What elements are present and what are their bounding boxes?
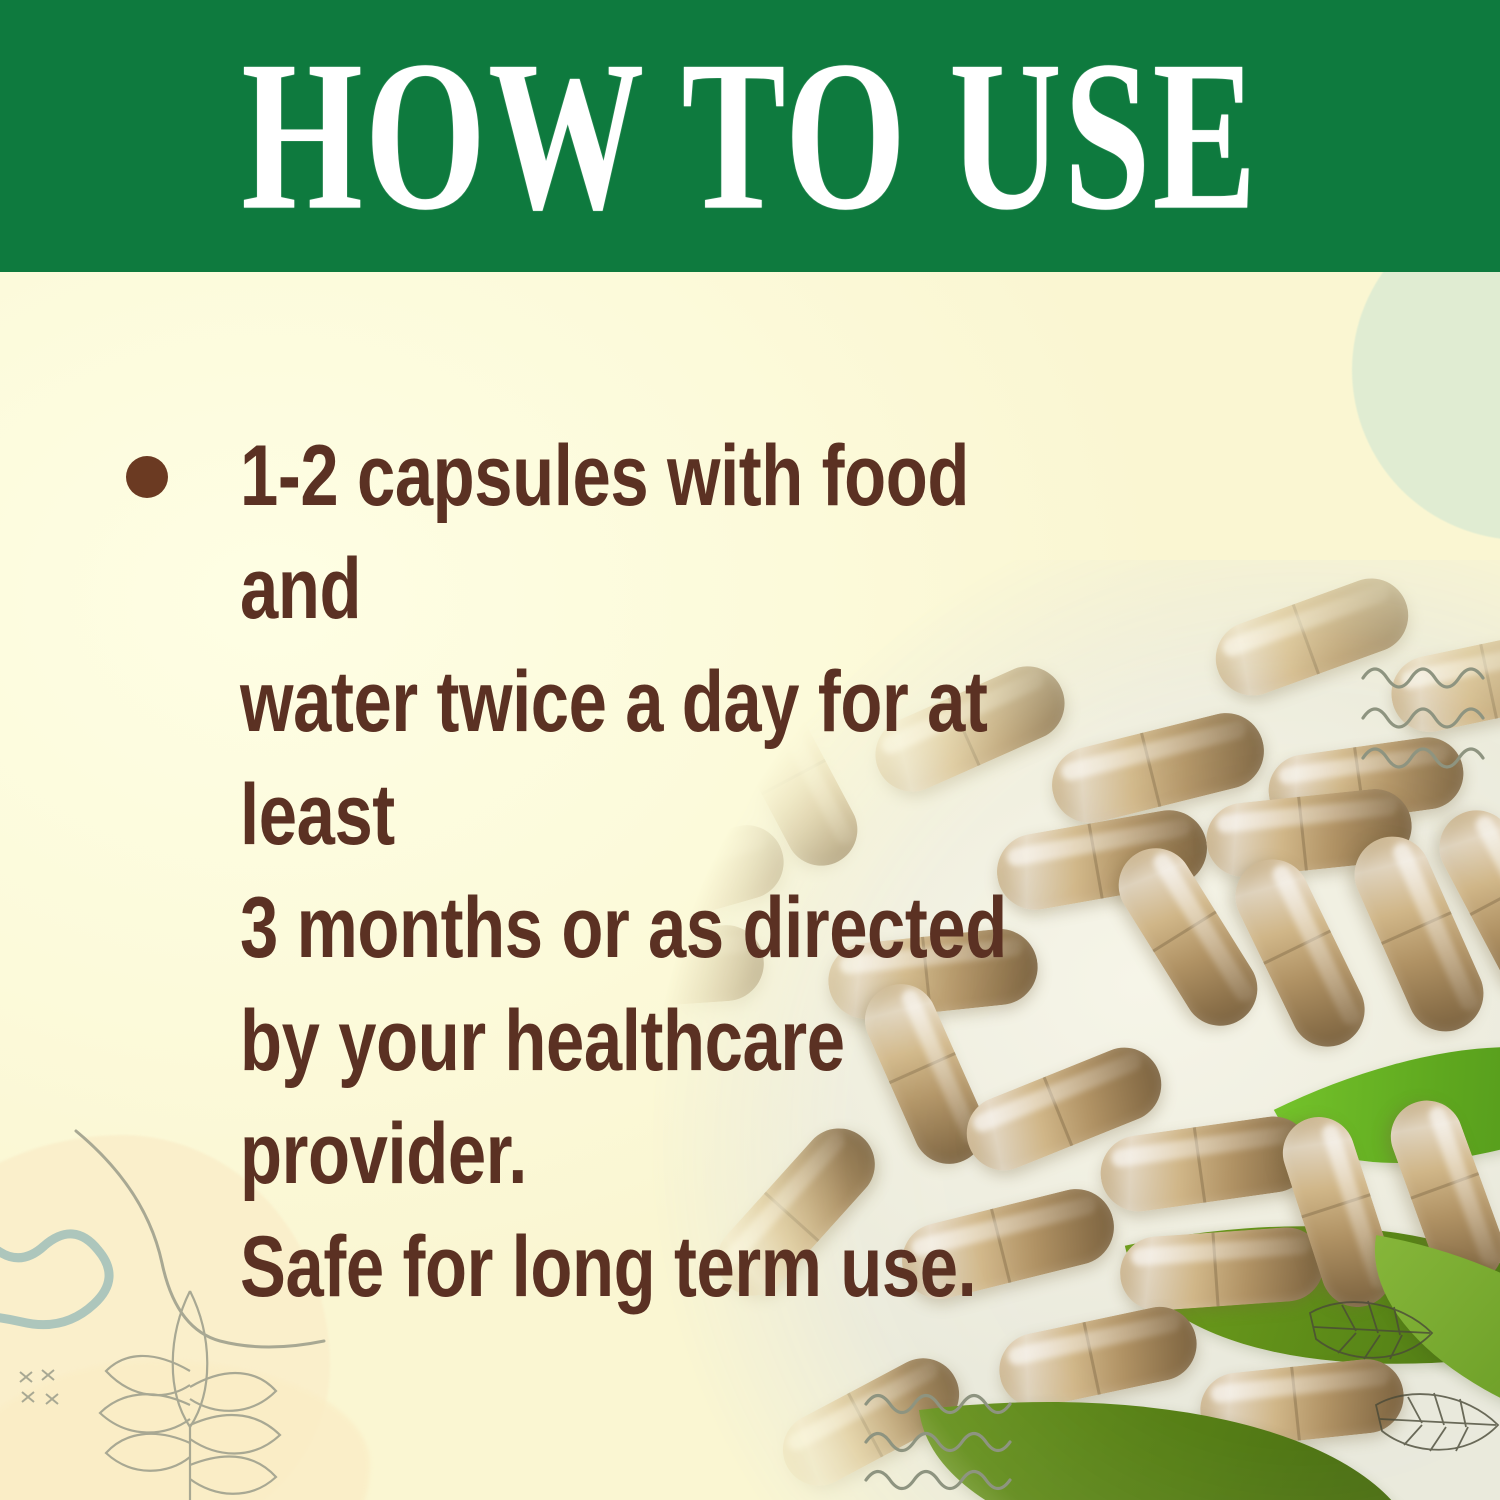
bullet-point-icon bbox=[126, 456, 168, 498]
header-band: HOW TO USE bbox=[0, 0, 1500, 272]
instruction-block: 1-2 capsules with food and water twice a… bbox=[126, 420, 1206, 1324]
poster-canvas: HOW TO USE 1-2 capsules with food and wa… bbox=[0, 0, 1500, 1500]
instruction-text: 1-2 capsules with food and water twice a… bbox=[240, 420, 1013, 1324]
page-title: HOW TO USE bbox=[241, 28, 1258, 243]
